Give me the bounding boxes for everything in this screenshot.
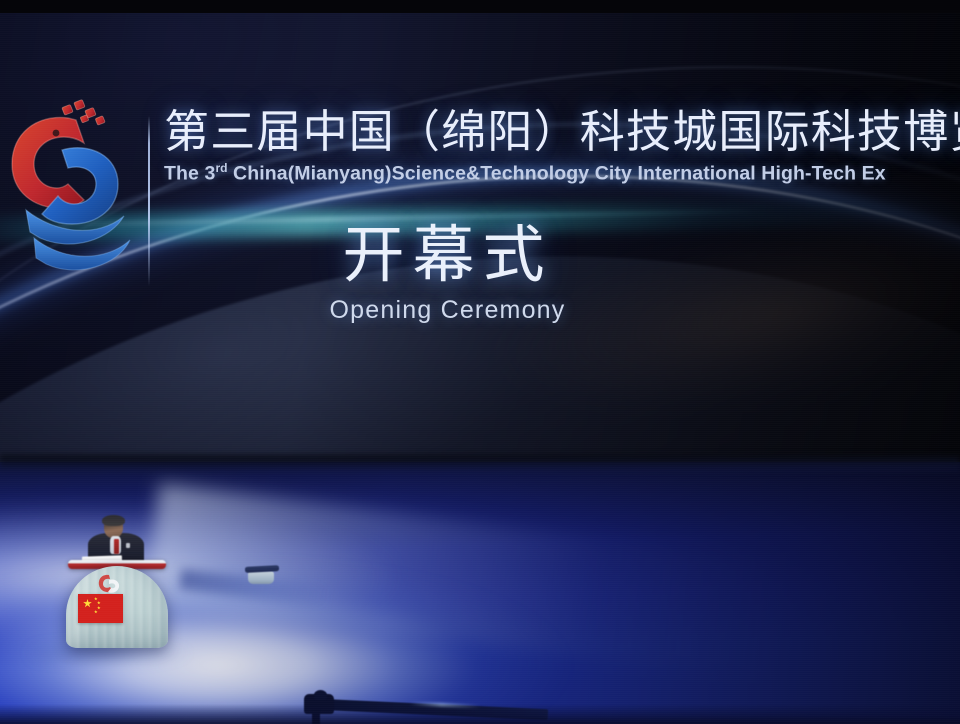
floor-monitor-body xyxy=(248,571,274,584)
flag-star-2 xyxy=(97,601,101,605)
floor-monitor-top xyxy=(245,565,279,573)
stage-photo: 第三届中国（绵阳）科技城国际科技博览会 The 3rd China(Mianya… xyxy=(0,0,960,724)
flag-star-large xyxy=(83,599,92,608)
event-title-block: 第三届中国（绵阳）科技城国际科技博览会 The 3rd China(Mianya… xyxy=(164,108,960,185)
floor-monitor-prop xyxy=(240,566,282,586)
event-title-english-rest: China(Mianyang)Science&Technology City I… xyxy=(228,162,886,184)
speaker-red-tie xyxy=(114,539,119,554)
flag-star-4 xyxy=(94,610,98,614)
floor-bottom-shadow xyxy=(0,704,960,724)
event-title-chinese: 第三届中国（绵阳）科技城国际科技博览会 xyxy=(164,108,960,156)
screen-stage-seam xyxy=(0,455,960,471)
letterbox-top-bar xyxy=(0,0,960,13)
expo-emblem-icon xyxy=(96,572,122,596)
event-title-english: The 3rd China(Mianyang)Science&Technolog… xyxy=(164,161,960,186)
ceremony-headline-chinese: 开幕式 xyxy=(0,222,895,290)
event-title-english-ordinal: rd xyxy=(215,161,227,175)
camera-knob xyxy=(314,690,327,700)
ceremony-headline-english: Opening Ceremony xyxy=(0,296,895,325)
ceremony-headline-block: 开幕式 Opening Ceremony xyxy=(0,222,960,325)
speaker-lapel-badge xyxy=(126,543,130,548)
flag-star-3 xyxy=(97,606,101,610)
event-title-english-prefix: The 3 xyxy=(164,162,215,184)
china-flag xyxy=(78,594,123,623)
flag-star-1 xyxy=(94,597,98,601)
speaker-hair xyxy=(102,515,125,526)
dome-podium-group xyxy=(62,516,172,648)
